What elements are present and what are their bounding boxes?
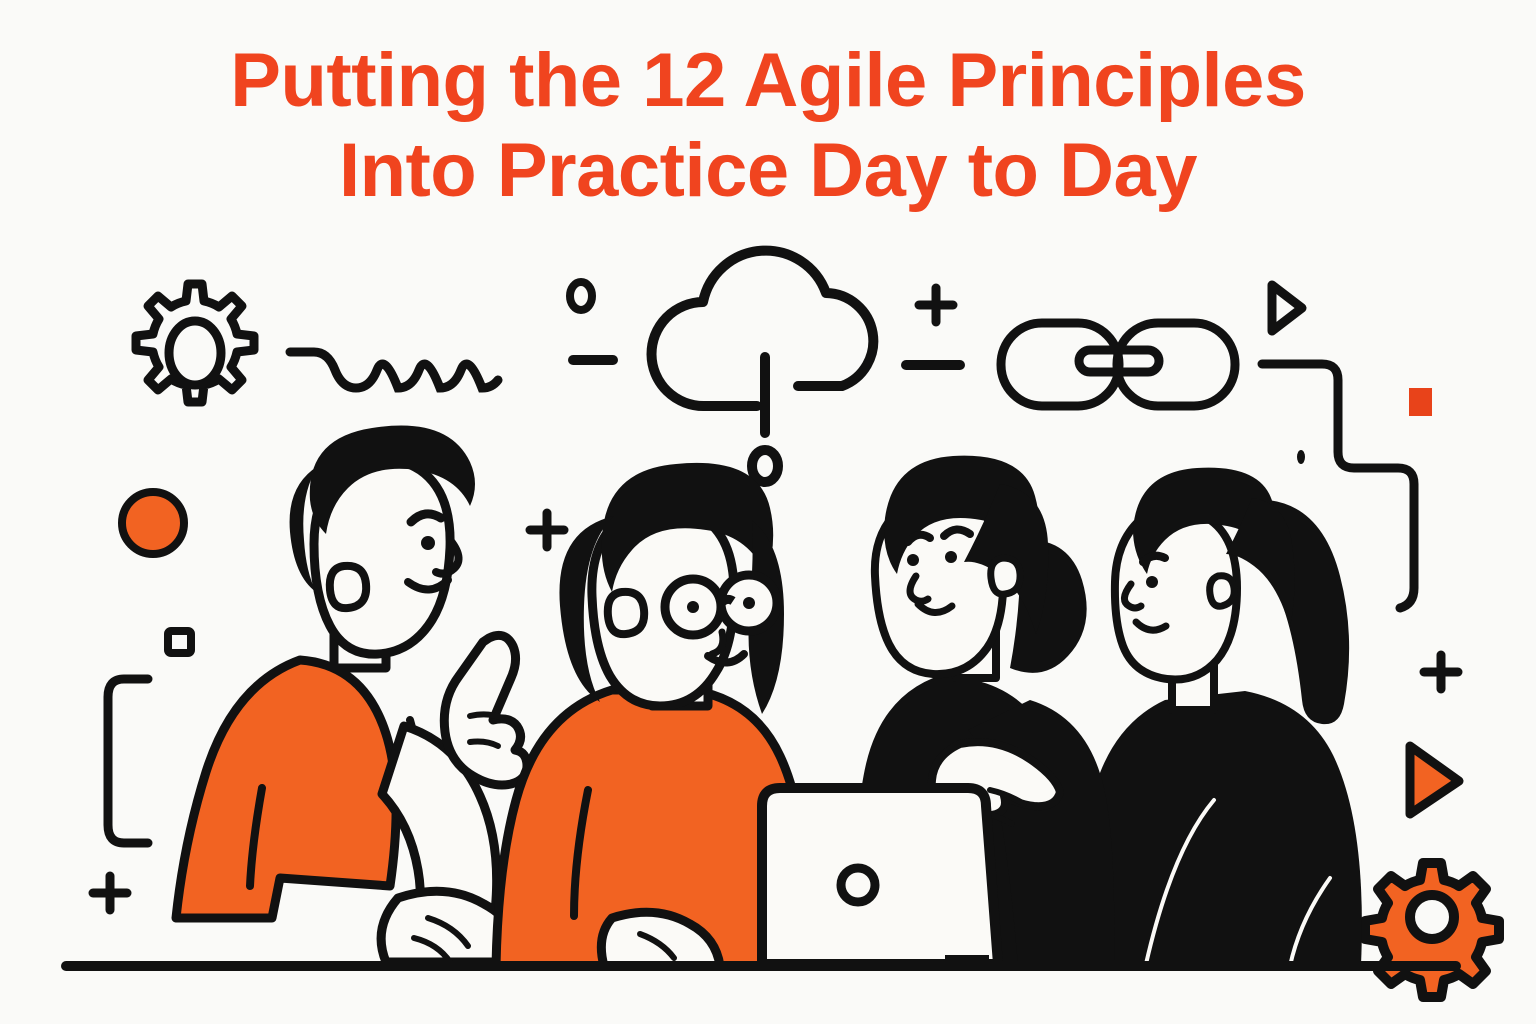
dot-icon <box>1297 450 1305 464</box>
chain-link-icon <box>1001 323 1235 406</box>
wave-line-icon <box>290 352 498 388</box>
square-outline-icon <box>168 631 191 653</box>
plus-icon-top <box>919 288 953 322</box>
person-1-man-orange <box>176 426 527 966</box>
orange-circle-icon <box>122 492 184 554</box>
person-4-woman-ponytail <box>1081 468 1362 966</box>
play-outline-icon <box>1272 285 1302 331</box>
plus-icon-mid <box>530 513 564 547</box>
orange-square-icon <box>1409 388 1432 416</box>
bracket-icon <box>108 679 148 843</box>
agile-principles-banner: Putting the 12 Agile Principles Into Pra… <box>0 0 1536 1024</box>
gear-filled-icon <box>1365 863 1499 997</box>
plus-icon-right <box>1424 655 1458 689</box>
laptop <box>762 788 998 967</box>
plus-icon-left <box>93 876 127 910</box>
team-illustration <box>0 0 1536 1024</box>
play-filled-icon <box>1410 746 1459 814</box>
gear-outline-icon <box>136 284 254 402</box>
cloud-upload-icon <box>652 251 874 482</box>
small-circle-icon <box>570 282 592 310</box>
